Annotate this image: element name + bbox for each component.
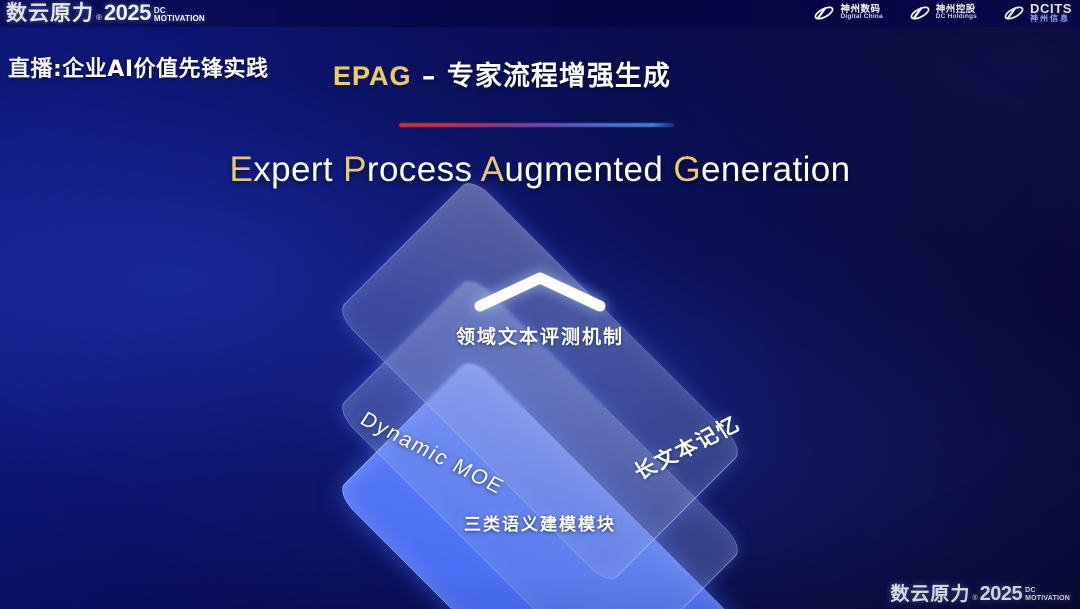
slide-title-separator: – xyxy=(412,61,447,92)
headline-cap-g: G xyxy=(673,150,701,189)
logo-dc-holdings: 神州控股 DC Holdings xyxy=(909,3,977,23)
brand-year: 2025 xyxy=(104,1,151,25)
footer-brand-watermark: 数云原力 ® 2025 DC MOTIVATION xyxy=(890,584,1070,605)
headline-cap-e: E xyxy=(229,150,253,189)
live-stream-title: 直播:企业AI价值先锋实践 xyxy=(8,51,269,83)
headline-word-4: Generation xyxy=(673,150,850,189)
slide-title-chinese: 专家流程增强生成 xyxy=(447,61,671,92)
swirl-logo-icon xyxy=(813,3,835,23)
layer-stack-diagram: 领域文本评测机制 Dynamic MOE 长文本记忆 三类语义建模模块 xyxy=(290,228,790,558)
headline-cap-a: A xyxy=(481,150,505,189)
slide-title: EPAG – 专家流程增强生成 xyxy=(333,54,671,93)
swirl-logo-icon xyxy=(909,3,931,23)
logo-dcits: DCITS 神州信息 xyxy=(1003,2,1072,23)
headline-rest-4: eneration xyxy=(701,150,851,189)
brand-dc-line2: MOTIVATION xyxy=(154,15,205,23)
headline-word-3: Augmented xyxy=(481,150,664,189)
footer-brand-dc-line2: MOTIVATION xyxy=(1025,595,1070,603)
headline-word-1: Expert xyxy=(229,150,333,189)
slide-canvas: 数云原力 ® 2025 DC MOTIVATION 神州数码 Digital C… xyxy=(0,0,1080,609)
logo-label-en: DC Holdings xyxy=(936,14,977,21)
brand-registered-mark: ® xyxy=(96,11,102,25)
logo-label-en: Digital China xyxy=(840,14,882,21)
chevron-up-icon xyxy=(472,270,608,312)
footer-brand-year: 2025 xyxy=(980,584,1023,605)
stack-label-top: 领域文本评测机制 xyxy=(290,322,790,349)
logo-digital-china: 神州数码 Digital China xyxy=(813,3,882,23)
headline-expert-process-augmented-generation: Expert Process Augmented Generation xyxy=(0,150,1080,190)
headline-rest-1: xpert xyxy=(253,150,333,189)
footer-brand-registered-mark: ® xyxy=(972,593,977,605)
footer-brand-dc-line1: DC xyxy=(1025,587,1070,595)
slide-title-acronym: EPAG xyxy=(333,61,412,91)
stack-label-bottom: 三类语义建模模块 xyxy=(290,510,790,535)
header-brand-logo: 数云原力 ® 2025 DC MOTIVATION xyxy=(6,1,205,25)
partner-logo-group: 神州数码 Digital China 神州控股 DC Holdings DCIT… xyxy=(813,2,1072,23)
headline-word-2: Process xyxy=(343,150,472,189)
swirl-logo-icon xyxy=(1003,3,1025,23)
logo-label-en: 神州信息 xyxy=(1030,15,1072,23)
brand-name-cn: 数云原力 xyxy=(6,1,94,25)
footer-brand-name-cn: 数云原力 xyxy=(890,584,970,605)
headline-rest-2: rocess xyxy=(367,150,473,189)
brand-dc-motivation: DC MOTIVATION xyxy=(154,7,205,23)
footer-brand-dc-motivation: DC MOTIVATION xyxy=(1025,587,1070,603)
headline-cap-p: P xyxy=(343,150,367,189)
headline-rest-3: ugmented xyxy=(504,150,663,189)
gradient-divider xyxy=(399,123,675,127)
